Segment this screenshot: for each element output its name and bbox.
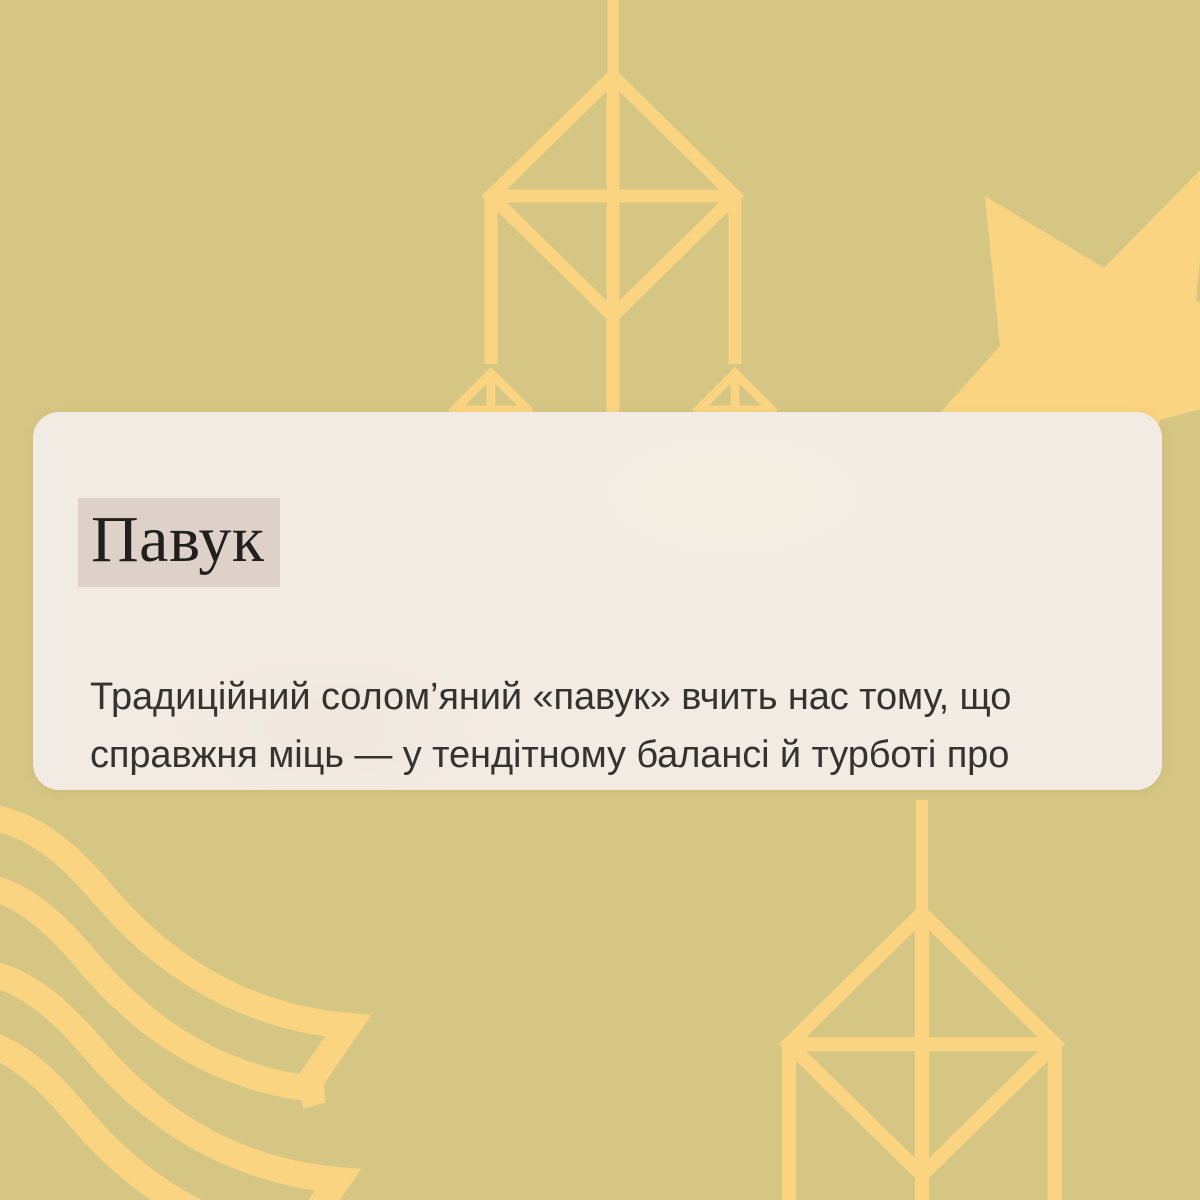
content-card: Павук Традиційний солом’яний «павук» вчи…	[33, 412, 1162, 790]
title-highlight: Павук	[78, 454, 280, 631]
wave-decorations	[0, 803, 358, 1200]
bottom-straw-spider-ornament	[749, 800, 1095, 1200]
card-inner: Павук Традиційний солом’яний «павук» вчи…	[33, 412, 1162, 790]
page-title: Павук	[78, 498, 280, 587]
card-body-text: Традиційний солом’яний «павук» вчить нас…	[90, 669, 1070, 790]
poster-canvas: Павук Традиційний солом’яний «павук» вчи…	[0, 0, 1200, 1200]
